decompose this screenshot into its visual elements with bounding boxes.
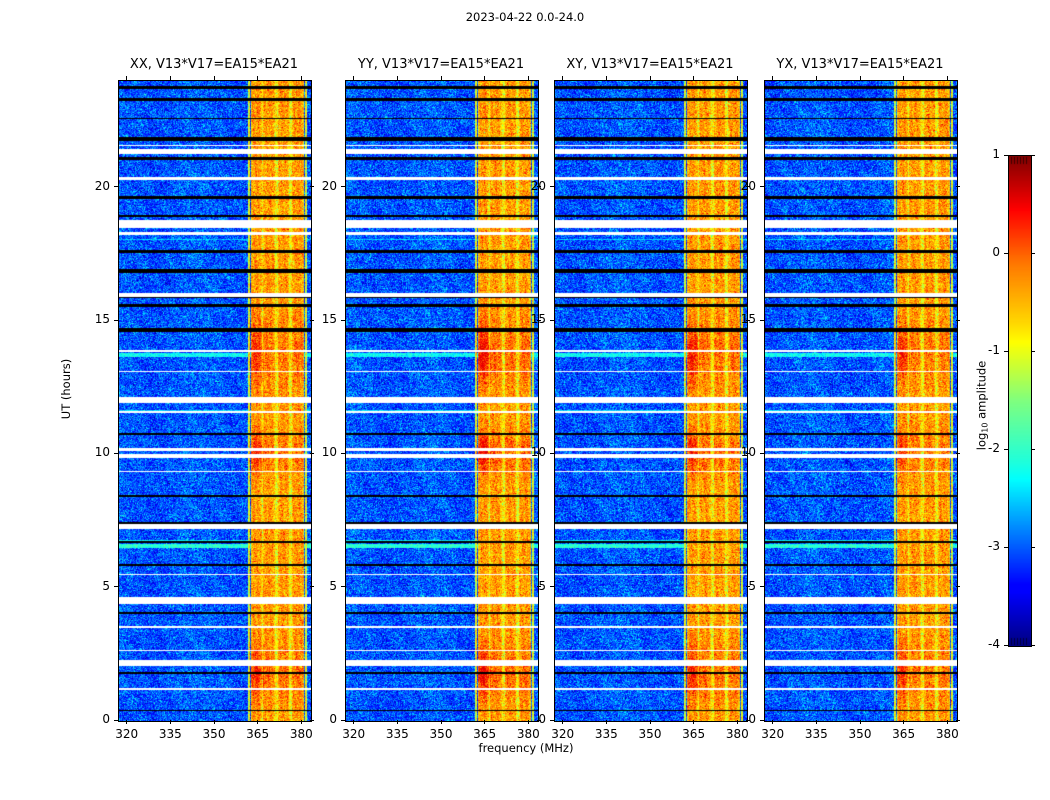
x-tick-label: 350: [190, 727, 238, 741]
x-tickmark: [484, 76, 485, 80]
x-tick-label: 365: [880, 727, 928, 741]
colorbar-label-suffix: amplitude: [975, 361, 989, 423]
x-tickmark: [528, 76, 529, 80]
y-tickmark: [114, 453, 118, 454]
y-tick-label: 0: [720, 712, 756, 726]
y-tickmark: [760, 453, 764, 454]
spectrogram-panel-xy[interactable]: [554, 80, 748, 722]
x-tick-label: 320: [539, 727, 587, 741]
y-tick-label: 10: [720, 445, 756, 459]
colorbar-label-subscript: 10: [981, 423, 990, 433]
y-tick-label: 20: [301, 179, 337, 193]
y-tickmark: [550, 453, 554, 454]
colorbar-tickmark: [1031, 351, 1035, 352]
x-tickmark: [353, 76, 354, 80]
spectrogram-panel-xx[interactable]: [118, 80, 312, 722]
x-tick-label: 320: [330, 727, 378, 741]
y-tickmark: [550, 720, 554, 721]
y-tickmark: [956, 720, 960, 721]
x-tickmark: [693, 76, 694, 80]
x-tickmark: [606, 720, 607, 724]
x-tick-label: 365: [234, 727, 282, 741]
y-tick-label: 10: [510, 445, 546, 459]
colorbar-tickmark: [1004, 253, 1008, 254]
x-tickmark: [650, 720, 651, 724]
x-tickmark: [947, 76, 948, 80]
x-tick-label: 335: [373, 727, 421, 741]
x-tick-label: 335: [792, 727, 840, 741]
spectrogram-image-yy: [346, 81, 538, 721]
y-tickmark: [956, 453, 960, 454]
y-tick-label: 5: [74, 579, 110, 593]
y-tick-label: 15: [510, 312, 546, 326]
y-tickmark: [114, 586, 118, 587]
colorbar-tickmark: [1031, 253, 1035, 254]
colorbar-tickmark: [1004, 645, 1008, 646]
x-tickmark: [214, 76, 215, 80]
figure-title: 2023-04-22 0.0-24.0: [0, 10, 1050, 24]
colorbar-tick-label: -1: [962, 343, 1000, 357]
colorbar-tickmark: [1031, 645, 1035, 646]
y-tickmark: [760, 320, 764, 321]
x-tickmark: [257, 720, 258, 724]
x-tickmark: [126, 76, 127, 80]
y-tick-label: 15: [720, 312, 756, 326]
colorbar-tickmark: [1004, 449, 1008, 450]
panel-title-xx: XX, V13*V17=EA15*EA21: [88, 57, 340, 72]
x-tick-label: 320: [749, 727, 797, 741]
y-tickmark: [341, 720, 345, 721]
x-tick-label: 365: [670, 727, 718, 741]
y-tick-label: 5: [301, 579, 337, 593]
x-tick-label: 380: [923, 727, 971, 741]
x-tickmark: [257, 76, 258, 80]
x-axis-label: frequency (MHz): [426, 741, 626, 755]
colorbar-tickmark: [1004, 351, 1008, 352]
colorbar-tickmark: [1004, 547, 1008, 548]
y-tickmark: [341, 453, 345, 454]
x-tick-label: 350: [417, 727, 465, 741]
y-tick-label: 15: [301, 312, 337, 326]
x-tickmark: [397, 720, 398, 724]
figure-canvas: 2023-04-22 0.0-24.0 UT (hours) frequency…: [0, 0, 1050, 800]
y-tick-label: 20: [510, 179, 546, 193]
y-tickmark: [341, 320, 345, 321]
x-tickmark: [170, 76, 171, 80]
y-tick-label: 15: [74, 312, 110, 326]
y-tickmark: [550, 586, 554, 587]
x-tickmark: [772, 720, 773, 724]
x-tickmark: [816, 720, 817, 724]
spectrogram-image-xy: [555, 81, 747, 721]
x-tick-label: 335: [146, 727, 194, 741]
x-tickmark: [816, 76, 817, 80]
x-tick-label: 320: [103, 727, 151, 741]
y-tick-label: 20: [720, 179, 756, 193]
x-tickmark: [214, 720, 215, 724]
colorbar[interactable]: [1008, 155, 1032, 647]
y-tick-label: 10: [74, 445, 110, 459]
y-tick-label: 20: [74, 179, 110, 193]
y-tickmark: [341, 186, 345, 187]
x-tickmark: [860, 720, 861, 724]
x-tickmark: [650, 76, 651, 80]
y-tickmark: [114, 720, 118, 721]
y-tickmark: [114, 186, 118, 187]
y-tickmark: [956, 186, 960, 187]
y-axis-label: UT (hours): [59, 329, 73, 449]
x-tickmark: [606, 76, 607, 80]
y-tickmark: [550, 186, 554, 187]
y-tick-label: 5: [510, 579, 546, 593]
x-tick-label: 350: [626, 727, 674, 741]
x-tickmark: [693, 720, 694, 724]
y-tickmark: [550, 320, 554, 321]
spectrogram-image-xx: [119, 81, 311, 721]
x-tickmark: [397, 76, 398, 80]
colorbar-tickmark: [1031, 155, 1035, 156]
x-tickmark: [170, 720, 171, 724]
x-tickmark: [562, 76, 563, 80]
colorbar-tickmark: [1031, 449, 1035, 450]
y-tickmark: [341, 586, 345, 587]
colorbar-gradient: [1009, 156, 1031, 646]
x-tickmark: [441, 76, 442, 80]
colorbar-tick-label: -4: [962, 637, 1000, 651]
spectrogram-panel-yx[interactable]: [764, 80, 958, 722]
y-tick-label: 0: [301, 712, 337, 726]
y-tick-label: 5: [720, 579, 756, 593]
x-tick-label: 335: [582, 727, 630, 741]
y-tickmark: [760, 720, 764, 721]
spectrogram-image-yx: [765, 81, 957, 721]
x-tickmark: [737, 76, 738, 80]
x-tickmark: [772, 76, 773, 80]
y-tickmark: [114, 320, 118, 321]
colorbar-label: log10 amplitude: [975, 296, 990, 516]
colorbar-tick-label: -2: [962, 441, 1000, 455]
colorbar-tick-label: 1: [962, 147, 1000, 161]
colorbar-tickmark: [1004, 155, 1008, 156]
y-tickmark: [956, 586, 960, 587]
x-tickmark: [484, 720, 485, 724]
x-tickmark: [353, 720, 354, 724]
spectrogram-panel-yy[interactable]: [345, 80, 539, 722]
colorbar-tick-label: -3: [962, 539, 1000, 553]
y-tickmark: [956, 320, 960, 321]
panel-title-yx: YX, V13*V17=EA15*EA21: [734, 57, 986, 72]
x-tickmark: [903, 76, 904, 80]
x-tick-label: 365: [461, 727, 509, 741]
x-tickmark: [301, 76, 302, 80]
x-tick-label: 380: [277, 727, 325, 741]
x-tickmark: [441, 720, 442, 724]
x-tickmark: [126, 720, 127, 724]
y-tickmark: [760, 586, 764, 587]
y-tick-label: 0: [74, 712, 110, 726]
x-tickmark: [947, 720, 948, 724]
x-tick-label: 350: [836, 727, 884, 741]
x-tickmark: [860, 76, 861, 80]
y-tick-label: 10: [301, 445, 337, 459]
x-tickmark: [903, 720, 904, 724]
y-tickmark: [760, 186, 764, 187]
colorbar-tickmark: [1031, 547, 1035, 548]
colorbar-tick-label: 0: [962, 245, 1000, 259]
y-tick-label: 0: [510, 712, 546, 726]
x-tickmark: [562, 720, 563, 724]
